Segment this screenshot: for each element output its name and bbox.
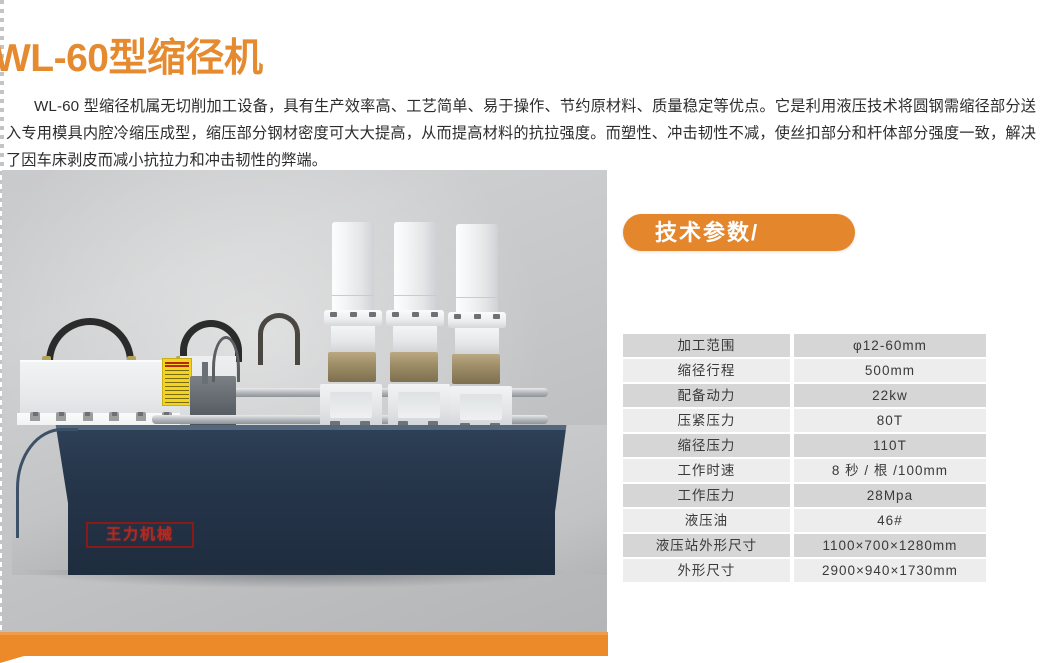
cylinder-flange-1	[324, 310, 382, 326]
page-root: WL-60型缩径机 WL-60 型缩径机属无切削加工设备，具有生产效率高、工艺简…	[0, 0, 1046, 663]
hydraulic-cylinder-2	[394, 222, 436, 314]
spec-row: 液压站外形尺寸1100×700×1280mm	[623, 534, 986, 559]
machine-brand-logo: 王力机械	[86, 522, 194, 548]
forming-die-1	[328, 352, 376, 382]
spec-row: 工作时速8 秒 / 根 /100mm	[623, 459, 986, 484]
cylinder-neck-1	[331, 326, 375, 352]
spec-value: 28Mpa	[794, 484, 986, 509]
spec-value: 110T	[794, 434, 986, 459]
spec-row: 液压油46#	[623, 509, 986, 534]
accent-bar-notch	[0, 656, 24, 663]
valve-2	[56, 412, 66, 421]
hydraulic-cylinder-1	[332, 222, 374, 314]
spec-row: 缩径行程500mm	[623, 359, 986, 384]
intro-paragraph: WL-60 型缩径机属无切削加工设备，具有生产效率高、工艺简单、易于操作、节约原…	[6, 93, 1036, 174]
spec-key: 配备动力	[623, 384, 794, 409]
page-title: WL-60型缩径机	[0, 36, 514, 82]
cylinder-neck-2	[393, 326, 437, 352]
spec-row: 加工范围φ12-60mm	[623, 334, 986, 359]
spec-key: 液压站外形尺寸	[623, 534, 794, 559]
base-floor-shadow	[26, 570, 566, 588]
cylinder-neck-3	[455, 328, 499, 354]
spec-value: 46#	[794, 509, 986, 534]
forming-die-3	[452, 354, 500, 384]
valve-4	[109, 412, 119, 421]
valve-5	[136, 412, 146, 421]
spec-value: 500mm	[794, 359, 986, 384]
warning-label-yellow	[162, 358, 192, 406]
spec-row: 压紧压力80T	[623, 409, 986, 434]
machine-base	[12, 425, 567, 575]
spec-key: 缩径行程	[623, 359, 794, 384]
valve-1	[30, 412, 40, 421]
spec-table: 加工范围φ12-60mm缩径行程500mm配备动力22kw压紧压力80T缩径压力…	[623, 334, 986, 584]
spec-key: 液压油	[623, 509, 794, 534]
bottom-accent-bar	[0, 632, 608, 656]
spec-key: 加工范围	[623, 334, 794, 359]
spec-value: 22kw	[794, 384, 986, 409]
spec-value: 8 秒 / 根 /100mm	[794, 459, 986, 484]
cylinder-flange-2	[386, 310, 444, 326]
spec-key: 外形尺寸	[623, 559, 794, 584]
spec-row: 工作压力28Mpa	[623, 484, 986, 509]
spec-table-body: 加工范围φ12-60mm缩径行程500mm配备动力22kw压紧压力80T缩径压力…	[623, 334, 986, 584]
section-banner: 技术参数/	[623, 214, 855, 251]
spec-value: 2900×940×1730mm	[794, 559, 986, 584]
cylinder-flange-3	[448, 312, 506, 328]
base-top-highlight	[12, 425, 567, 430]
spec-row: 外形尺寸2900×940×1730mm	[623, 559, 986, 584]
valve-row	[30, 411, 172, 421]
spec-key: 工作时速	[623, 459, 794, 484]
forming-die-2	[390, 352, 438, 382]
hydraulic-cylinder-3	[456, 224, 498, 316]
accent-bar-sheen	[0, 632, 608, 635]
spec-value: φ12-60mm	[794, 334, 986, 359]
carriage-arm	[202, 362, 208, 384]
product-photo: 王力机械	[2, 170, 607, 632]
spec-row: 配备动力22kw	[623, 384, 986, 409]
valve-3	[83, 412, 93, 421]
spec-key: 压紧压力	[623, 409, 794, 434]
spec-row: 缩径压力110T	[623, 434, 986, 459]
spec-key: 工作压力	[623, 484, 794, 509]
spec-key: 缩径压力	[623, 434, 794, 459]
hydraulic-hose-right	[258, 313, 300, 365]
spec-value: 1100×700×1280mm	[794, 534, 986, 559]
spec-value: 80T	[794, 409, 986, 434]
